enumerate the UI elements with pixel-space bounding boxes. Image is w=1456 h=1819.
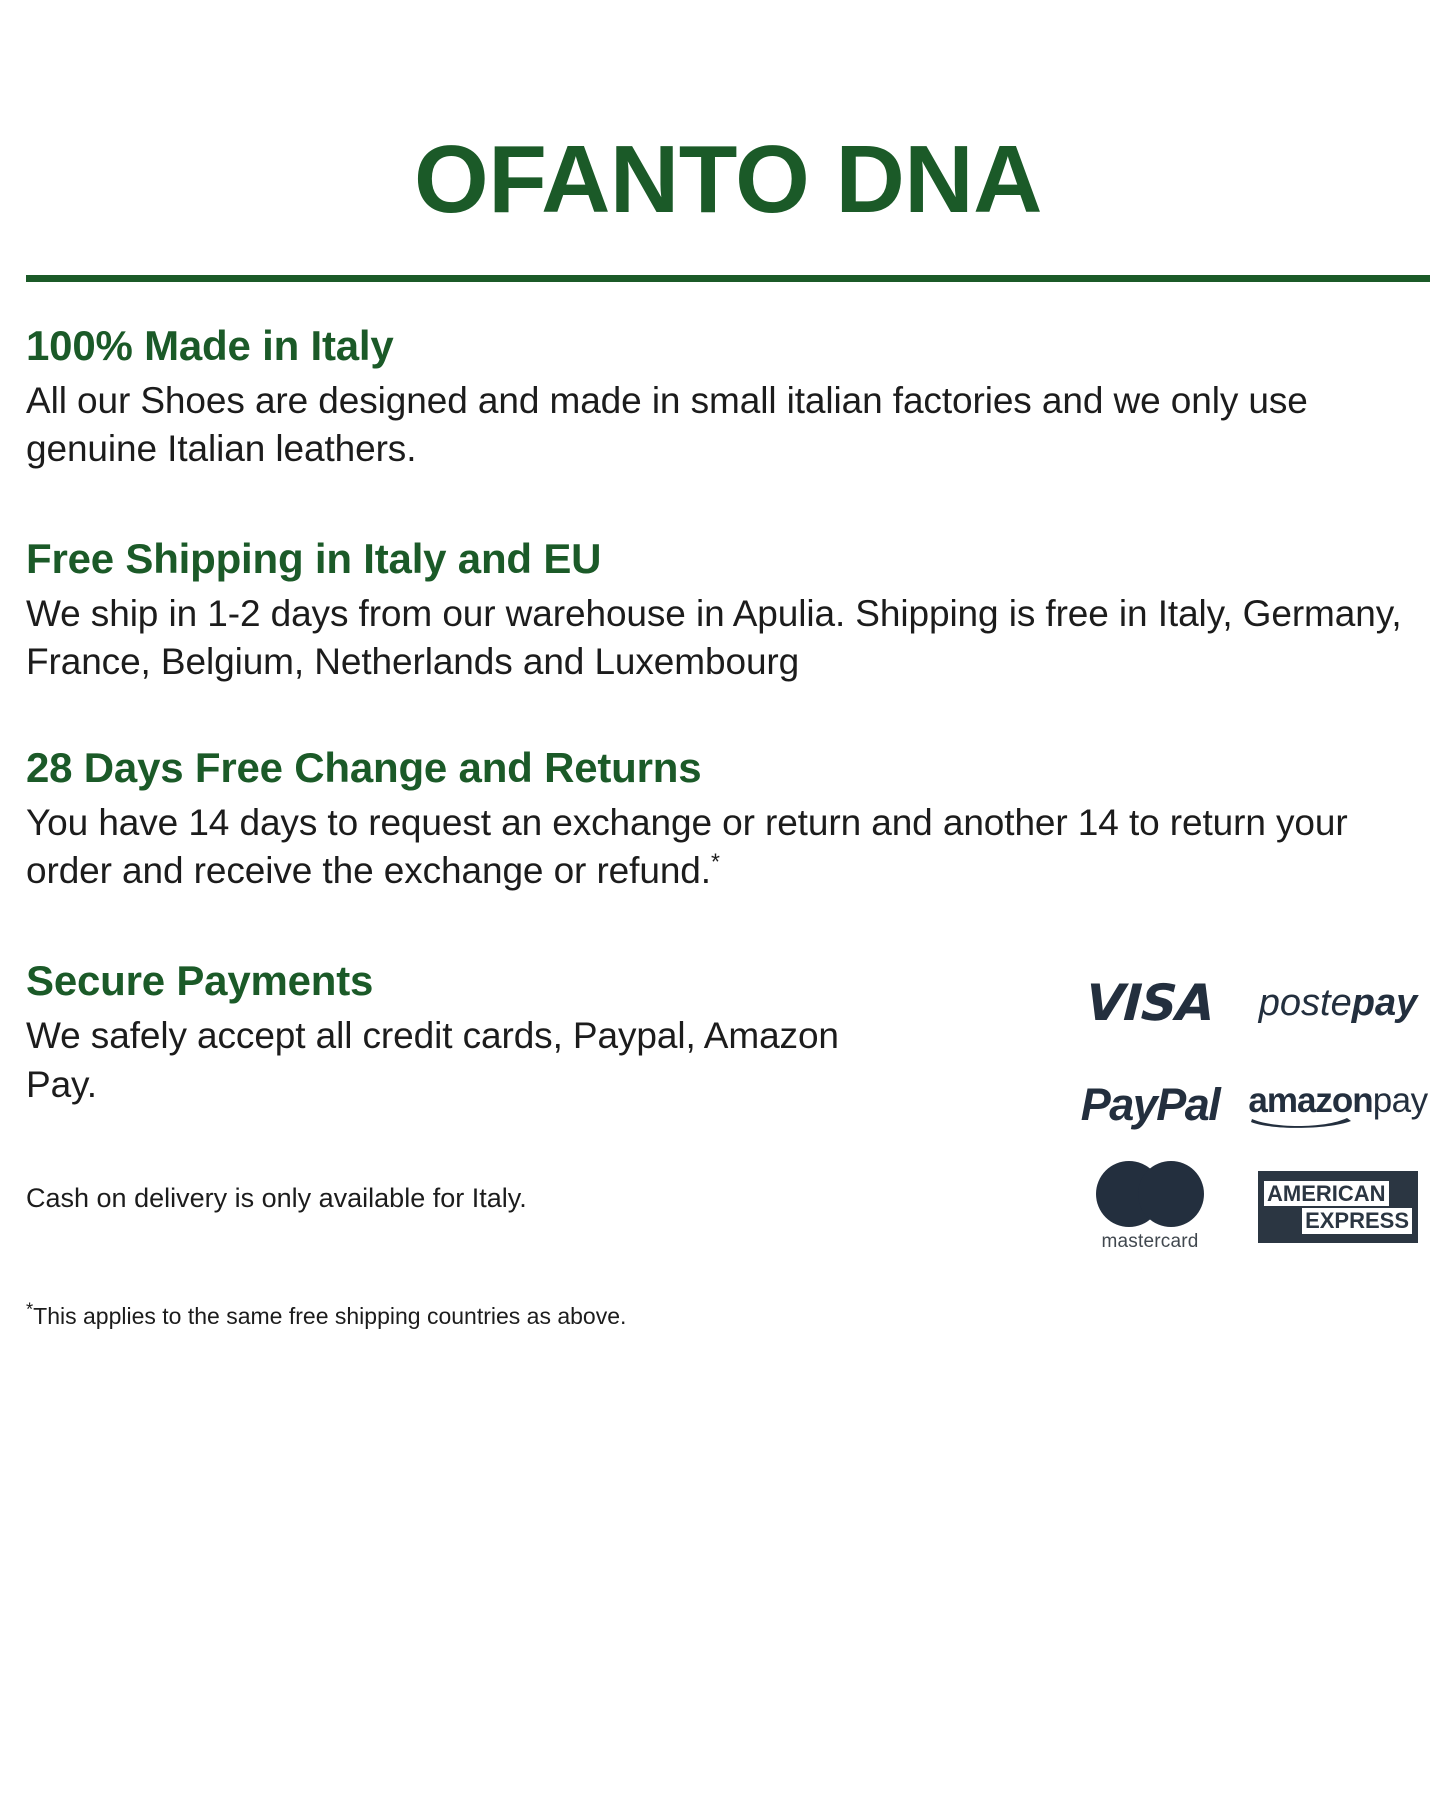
section-body-returns: You have 14 days to request an exchange …: [26, 799, 1430, 895]
ofanto-dna-page: OFANTO DNA 100% Made in Italy All our Sh…: [0, 0, 1456, 1819]
footnote-text: This applies to the same free shipping c…: [33, 1303, 626, 1329]
amazon-pay-label: pay: [1373, 1081, 1428, 1120]
shipping-footnote: *This applies to the same free shipping …: [26, 1216, 866, 1332]
visa-icon: VISA: [1084, 974, 1215, 1032]
amex-line-express: EXPRESS: [1302, 1208, 1412, 1233]
paypal-icon: PayPal: [1081, 1079, 1220, 1131]
mastercard-logo-cell: mastercard: [1070, 1169, 1230, 1245]
section-body-free-shipping: We ship in 1-2 days from our warehouse i…: [26, 590, 1430, 686]
mastercard-circle-right: [1138, 1161, 1204, 1227]
page-title: OFANTO DNA: [26, 0, 1430, 231]
amazon-label: amazon: [1248, 1081, 1372, 1120]
section-free-shipping: Free Shipping in Italy and EU We ship in…: [26, 535, 1430, 686]
section-heading-secure-payments: Secure Payments: [26, 957, 866, 1004]
section-body-secure-payments: We safely accept all credit cards, Paypa…: [26, 1012, 866, 1108]
payment-logos-grid: VISA postepay PayPal amazonpay mastercar…: [1070, 965, 1430, 1245]
title-divider: [26, 275, 1430, 282]
section-heading-free-shipping: Free Shipping in Italy and EU: [26, 535, 1430, 582]
secure-payments-text-block: Secure Payments We safely accept all cre…: [26, 957, 866, 1331]
cash-on-delivery-note: Cash on delivery is only available for I…: [26, 1181, 866, 1216]
mastercard-circles: [1096, 1161, 1204, 1227]
postepay-logo-cell: postepay: [1248, 965, 1428, 1041]
amex-line-american: AMERICAN: [1264, 1181, 1389, 1206]
amazon-smile-icon: [1250, 1116, 1354, 1128]
section-body-returns-text: You have 14 days to request an exchange …: [26, 802, 1348, 891]
amazon-pay-icon: amazonpay: [1248, 1083, 1427, 1128]
mastercard-icon: mastercard: [1096, 1161, 1204, 1253]
section-secure-payments: Secure Payments We safely accept all cre…: [26, 957, 1430, 1331]
section-made-in-italy: 100% Made in Italy All our Shoes are des…: [26, 322, 1430, 473]
visa-logo-cell: VISA: [1070, 965, 1230, 1041]
section-heading-made-in-italy: 100% Made in Italy: [26, 322, 1430, 369]
american-express-icon: AMERICAN EXPRESS: [1258, 1171, 1418, 1243]
section-body-made-in-italy: All our Shoes are designed and made in s…: [26, 377, 1430, 473]
postepay-label-light: poste: [1259, 982, 1352, 1024]
returns-footnote-marker: *: [711, 849, 720, 875]
american-express-logo-cell: AMERICAN EXPRESS: [1248, 1169, 1428, 1245]
section-heading-returns: 28 Days Free Change and Returns: [26, 744, 1430, 791]
postepay-label-bold: pay: [1352, 982, 1417, 1024]
amazon-pay-logo-cell: amazonpay: [1248, 1067, 1428, 1143]
postepay-icon: postepay: [1259, 982, 1417, 1025]
paypal-logo-cell: PayPal: [1070, 1067, 1230, 1143]
mastercard-label: mastercard: [1101, 1231, 1198, 1253]
section-returns: 28 Days Free Change and Returns You have…: [26, 744, 1430, 895]
